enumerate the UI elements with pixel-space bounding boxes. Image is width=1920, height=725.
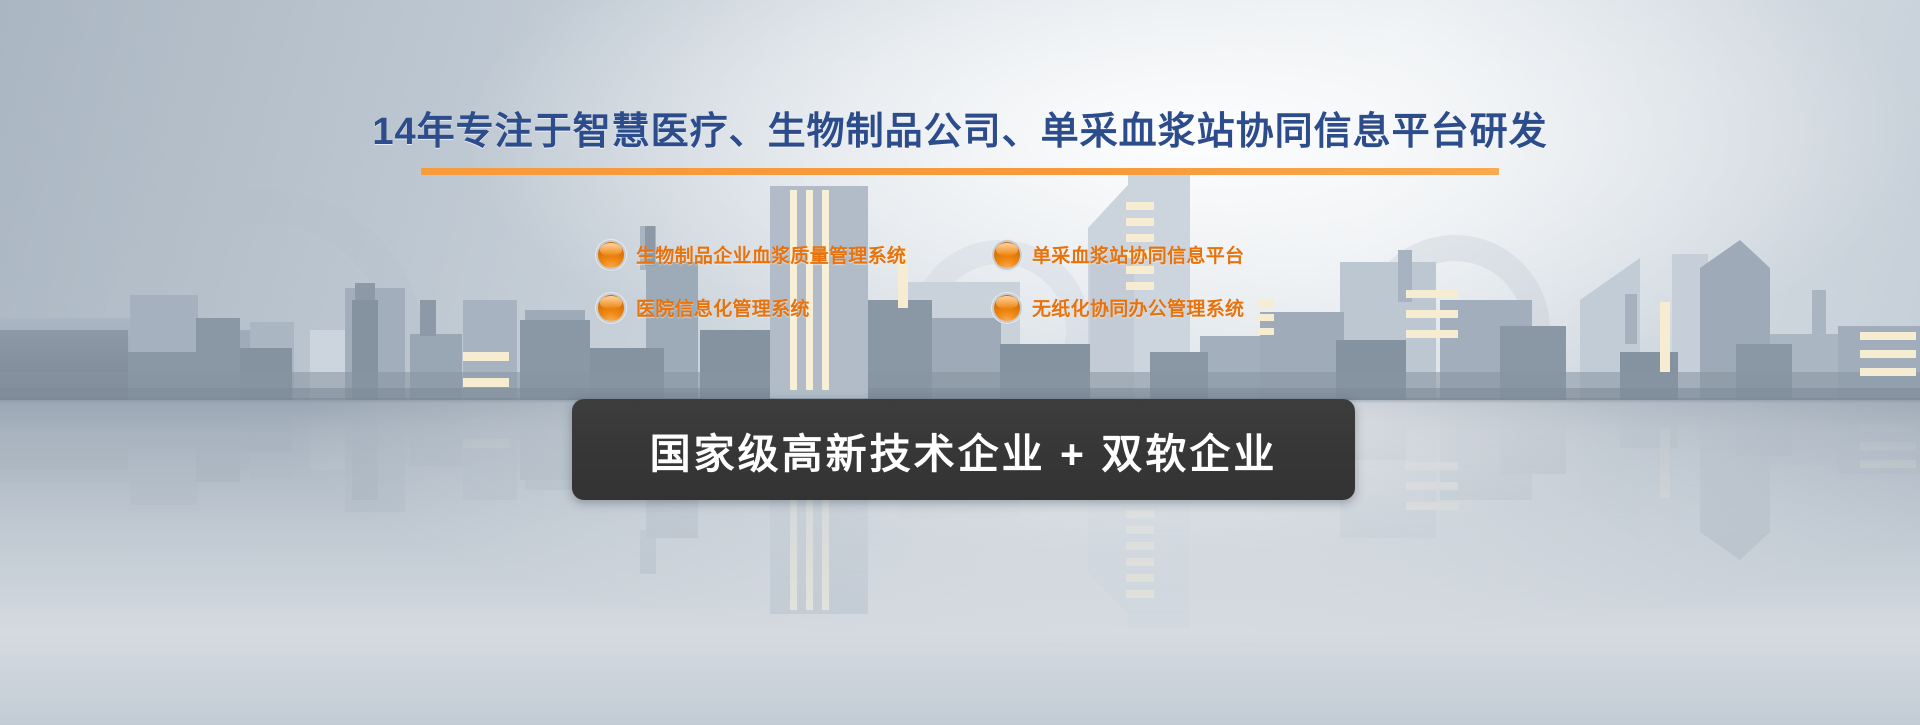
- feature-label: 无纸化协同办公管理系统: [1032, 294, 1244, 321]
- orange-sphere-bullet-icon: [598, 242, 624, 268]
- feature-label: 医院信息化管理系统: [636, 294, 810, 321]
- feature-item-plasma-station-platform[interactable]: 单采血浆站协同信息平台: [994, 241, 1318, 268]
- headline-text: 14年专注于智慧医疗、生物制品公司、单采血浆站协同信息平台研发: [372, 100, 1547, 155]
- orange-sphere-bullet-icon: [994, 242, 1020, 268]
- orange-sphere-bullet-icon: [994, 295, 1020, 321]
- feature-item-plasma-quality[interactable]: 生物制品企业血浆质量管理系统: [598, 241, 994, 268]
- hero-banner: 14年专注于智慧医疗、生物制品公司、单采血浆站协同信息平台研发 生物制品企业血浆…: [0, 0, 1920, 725]
- orange-sphere-bullet-icon: [598, 295, 624, 321]
- feature-label: 生物制品企业血浆质量管理系统: [636, 241, 906, 268]
- certification-plaque: 国家级高新技术企业 + 双软企业: [572, 399, 1355, 500]
- headline-underline-rule: [421, 168, 1499, 175]
- certification-plaque-text: 国家级高新技术企业 + 双软企业: [650, 420, 1278, 480]
- feature-label: 单采血浆站协同信息平台: [1032, 241, 1244, 268]
- cityscape: [0, 0, 1920, 400]
- feature-list: 生物制品企业血浆质量管理系统 单采血浆站协同信息平台 医院信息化管理系统 无纸化…: [598, 228, 1318, 334]
- banner-headline: 14年专注于智慧医疗、生物制品公司、单采血浆站协同信息平台研发: [0, 100, 1920, 155]
- feature-item-paperless-office[interactable]: 无纸化协同办公管理系统: [994, 294, 1318, 321]
- feature-item-hospital-information[interactable]: 医院信息化管理系统: [598, 294, 994, 321]
